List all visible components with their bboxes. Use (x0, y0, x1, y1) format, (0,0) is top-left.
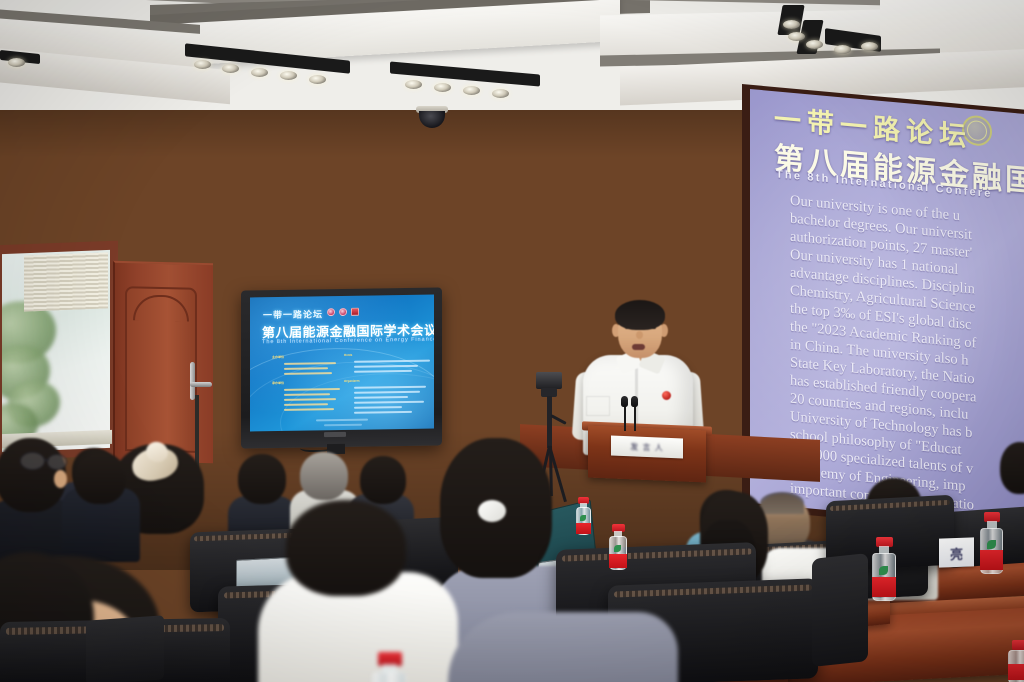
speaker-hair (615, 300, 665, 330)
ceiling-spotlight (783, 20, 800, 29)
eyeglasses-icon (20, 452, 45, 470)
tv-seal-icon (351, 308, 359, 316)
tv-column-heading-hosts-cn: 主办单位 (272, 355, 284, 359)
tv-screen[interactable]: 一带一路论坛 第八届能源金融国际学术会议 The 8th Internation… (250, 295, 434, 432)
tv-column-heading-hosts-en: Hosts (344, 353, 352, 357)
chair-armrest (812, 553, 868, 667)
tv-forum-title: 一带一路论坛 (263, 307, 323, 321)
ceiling-spotlight (492, 89, 509, 98)
tv-column-heading-organizers-cn: 承办单位 (272, 381, 284, 385)
ceiling-spotlight (280, 71, 297, 80)
eyeglasses-icon (47, 454, 67, 470)
coffered-ceiling (0, 0, 1024, 110)
ceiling-spotlight (405, 80, 422, 89)
ceiling-spotlight (434, 83, 451, 92)
door-handle-lever[interactable] (190, 382, 212, 387)
tv-cable (300, 443, 330, 452)
ceiling-spotlight (251, 68, 268, 77)
hair-scrunchie (478, 500, 506, 522)
ceiling-spotlight (834, 45, 851, 54)
ceiling-spotlight (194, 60, 211, 69)
door-closer-rod (195, 395, 199, 470)
ceiling-spotlight (463, 86, 480, 95)
tv-column-heading-organizers-en: Organizers (344, 379, 360, 383)
ceiling-spotlight (8, 58, 25, 67)
desk-name-card-text: 亮 (939, 543, 974, 563)
ceiling-spotlight (861, 42, 878, 51)
ceiling-spotlight (788, 32, 805, 41)
ceiling-spotlight (222, 64, 239, 73)
tv-seal-icon (339, 308, 347, 316)
ceiling-spotlight (806, 40, 823, 49)
chair-armrest (86, 615, 164, 682)
video-camera-icon (536, 372, 562, 389)
speaker-lapel-badge (662, 391, 671, 400)
tv-brand-logo (324, 432, 346, 437)
tv-seal-icon (327, 308, 335, 316)
conference-hall-photo: 一带一路论坛 第八届能源金融国际学术会议 The 8th Internation… (0, 0, 1024, 682)
speaker-shirt-pocket (586, 396, 610, 416)
ceiling-spotlight (309, 75, 326, 84)
window-blinds (24, 252, 108, 311)
